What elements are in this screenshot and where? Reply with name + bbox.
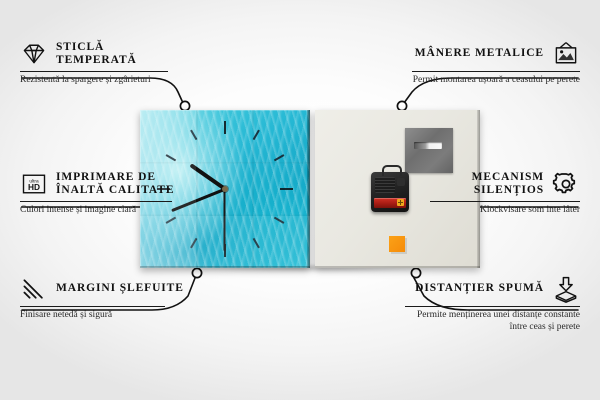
callout-rule [405,306,580,307]
callout-subtitle: Culori intense și imagine clară [20,205,194,217]
clock-tick [190,189,226,249]
callout-subtitle: Rezistentă la spargere și zgârieturi [20,75,188,87]
callout-title: MÂNERE METALICE [412,47,544,61]
orange-foam-spacer [389,236,405,252]
callout-imprimare-calitate: ultra HD IMPRIMARE DE ÎNALTĂ CALITATE Cu… [20,170,194,217]
callout-title: MECANISM SILENȚIOS [430,171,544,198]
callout-subtitle: Klockvisare som inte låter [430,205,580,217]
callout-title: MARGINI ȘLEFUITE [56,282,184,296]
gear-icon [552,170,580,198]
clock-second-hand [224,189,226,251]
callout-sticla-temperata: STICLĂ TEMPERATĂ Rezistentă la spargere … [20,40,188,87]
svg-text:HD: HD [28,182,40,192]
beveled-edge-icon [20,275,48,303]
battery-plus-terminal [397,199,404,206]
foam-spacer-icon [552,275,580,303]
callout-header: MECANISM SILENȚIOS [430,170,580,198]
diamond-icon [20,40,48,68]
callout-subtitle: Permite menținerea unei distanțe constan… [405,310,580,333]
callout-rule [20,71,168,72]
picture-hanger-icon [552,40,580,68]
callout-margini-slefuite: MARGINI ȘLEFUITE Finisare netedă și sigu… [20,275,188,322]
callout-title: DISTANȚIER SPUMĂ [405,282,544,296]
clock-hour-hand [189,163,226,190]
callout-header: STICLĂ TEMPERATĂ [20,40,188,68]
callout-title: IMPRIMARE DE ÎNALTĂ CALITATE [56,171,194,198]
callout-distantier-spuma: DISTANȚIER SPUMĂ Permite menținerea unei… [405,275,580,333]
clock-tick [225,188,293,190]
callout-manere-metalice: MÂNERE METALICE Permit montarea ușoară a… [412,40,580,87]
callout-title: STICLĂ TEMPERATĂ [56,41,188,68]
callout-header: DISTANȚIER SPUMĂ [405,275,580,303]
metal-hanger-plate [405,128,453,173]
clock-front-right-edge [307,110,310,268]
clock-front-bottom-edge [140,266,310,268]
clock-tick [224,130,260,190]
callout-header: MÂNERE METALICE [412,40,580,68]
callout-rule [430,201,580,202]
clock-tick [224,189,260,249]
callout-mecanism-silentios: MECANISM SILENȚIOS Klockvisare som inte … [430,170,580,217]
callout-rule [20,306,165,307]
callout-subtitle: Permit montarea ușoară a ceasului pe per… [412,75,580,87]
clock-center-cap [222,186,228,192]
clock-tick [190,130,226,190]
quartz-clock-mechanism [371,172,409,212]
callout-header: ultra HD IMPRIMARE DE ÎNALTĂ CALITATE [20,170,194,198]
callout-header: MARGINI ȘLEFUITE [20,275,188,303]
callout-rule [412,71,580,72]
mechanism-adjust-knob [397,178,405,186]
battery [374,198,406,208]
hanger-slot [414,142,442,149]
clock-tick [224,121,226,189]
ultra-hd-icon: ultra HD [20,170,48,198]
mechanism-grill [375,177,395,193]
clock-tick [224,189,226,257]
infographic-canvas: STICLĂ TEMPERATĂ Rezistentă la spargere … [0,0,600,400]
clock-tick [225,188,285,224]
mechanism-hanging-loop [382,165,402,176]
callout-subtitle: Finisare netedă și sigură [20,310,188,322]
callout-rule [20,201,172,202]
clock-back-bottom-edge [315,266,480,268]
clock-tick [225,154,285,190]
